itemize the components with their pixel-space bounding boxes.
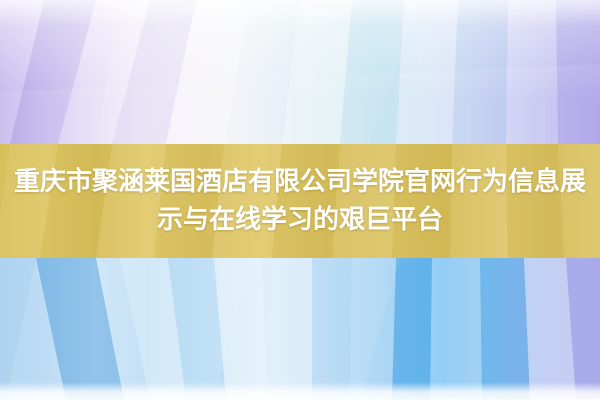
facet-overlay-top (0, 0, 600, 144)
top-haze (0, 0, 600, 26)
promo-banner: 重庆市聚涵莱国酒店有限公司学院官网行为信息展 示与在线学习的艰巨平台 (0, 0, 600, 400)
headline-line-2: 示与在线学习的艰巨平台 (157, 201, 443, 239)
facet-overlay-bottom (0, 258, 600, 400)
headline-line-1: 重庆市聚涵莱国酒店有限公司学院官网行为信息展 (14, 163, 586, 201)
facet-shapes-bottom-svg (0, 258, 600, 400)
banner-headline: 重庆市聚涵莱国酒店有限公司学院官网行为信息展 示与在线学习的艰巨平台 (0, 144, 600, 258)
bottom-fade-strip (0, 382, 600, 400)
